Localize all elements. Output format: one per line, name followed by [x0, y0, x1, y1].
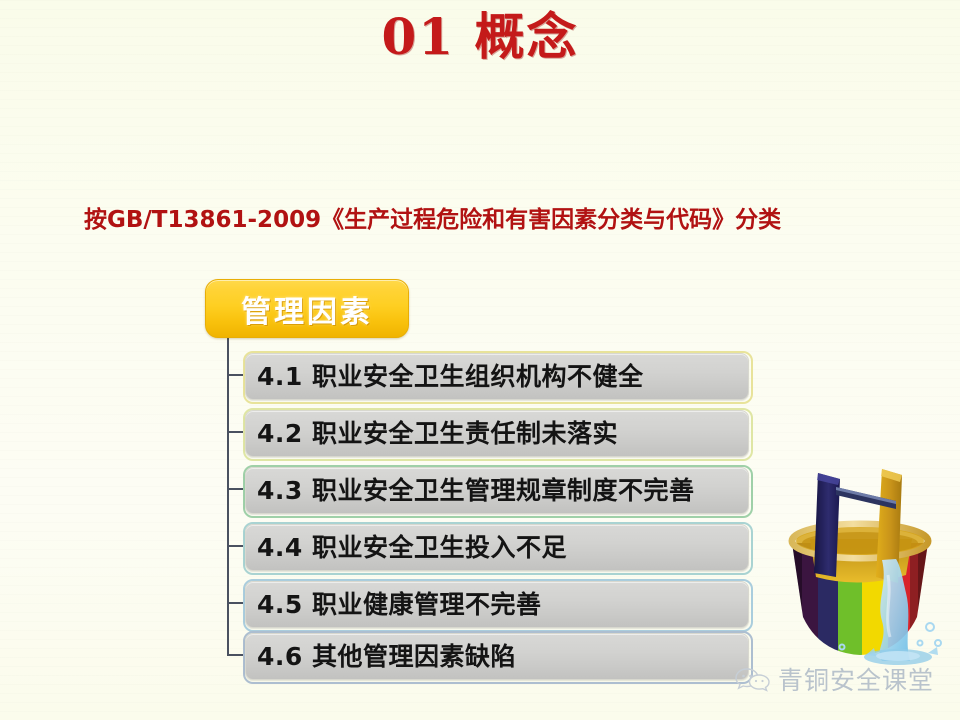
category-badge-label: 管理因素: [206, 280, 408, 337]
category-badge[interactable]: 管理因素: [205, 279, 409, 338]
list-item-label: 4.1 职业安全卫生组织机构不健全: [257, 354, 742, 399]
list-item-label: 4.4 职业安全卫生投入不足: [257, 525, 742, 570]
list-item-label: 4.2 职业安全卫生责任制未落实: [257, 411, 742, 456]
list-item-label: 4.6 其他管理因素缺陷: [257, 634, 742, 679]
list-item[interactable]: 4.2 职业安全卫生责任制未落实: [245, 410, 749, 457]
watermark-label: 青铜安全课堂: [778, 661, 934, 697]
list-item[interactable]: 4.4 职业安全卫生投入不足: [245, 524, 749, 571]
wechat-icon: [735, 666, 771, 692]
watermark: 青铜安全课堂: [735, 662, 934, 696]
list-item[interactable]: 4.3 职业安全卫生管理规章制度不完善: [245, 467, 749, 514]
slide-subtitle: 按GB/T13861-2009《生产过程危险和有害因素分类与代码》分类: [84, 204, 781, 236]
list-item[interactable]: 4.6 其他管理因素缺陷: [245, 633, 749, 680]
cask-barrel-icon: [770, 465, 950, 665]
page-title: 01 概念: [0, 6, 960, 68]
list-item-label: 4.5 职业健康管理不完善: [257, 582, 742, 627]
slide-canvas: 01 概念 按GB/T13861-2009《生产过程危险和有害因素分类与代码》分…: [0, 0, 960, 720]
list-item[interactable]: 4.1 职业安全卫生组织机构不健全: [245, 353, 749, 400]
list-item[interactable]: 4.5 职业健康管理不完善: [245, 581, 749, 628]
list-item-label: 4.3 职业安全卫生管理规章制度不完善: [257, 468, 742, 513]
